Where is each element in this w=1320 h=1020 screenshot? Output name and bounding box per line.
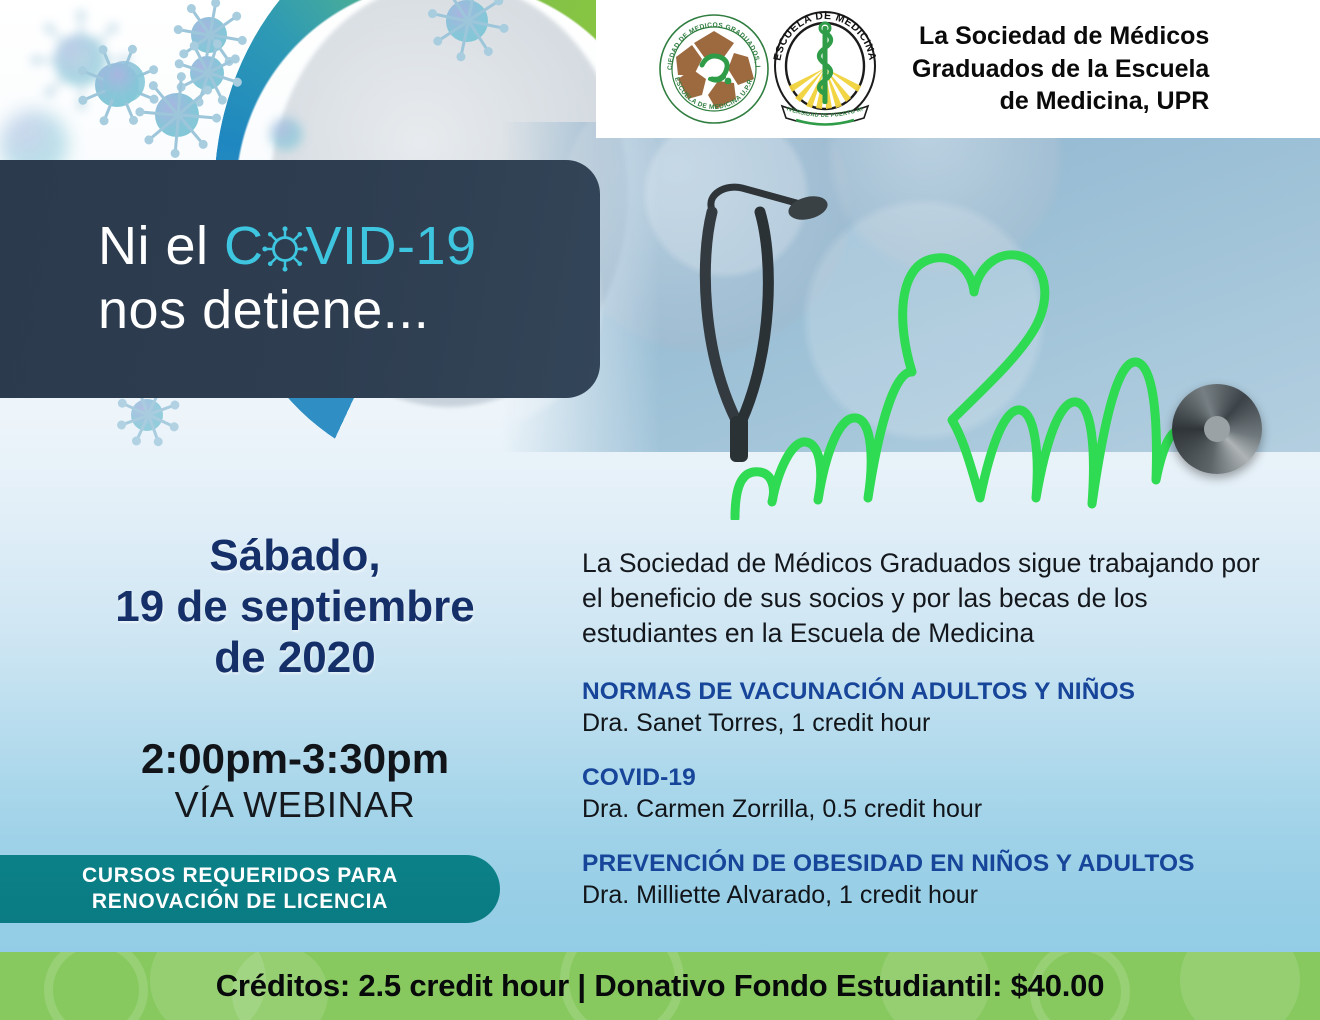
event-time: 2:00pm-3:30pm <box>60 736 530 782</box>
event-date-block: Sábado, 19 de septiembre de 2020 <box>60 530 530 683</box>
escuela-de-medicina-seal-icon: ESCUELA DE MEDICINA UNIVERSIDAD DE PUERT… <box>772 10 878 128</box>
course-speaker: Dra. Milliette Alvarado, 1 credit hour <box>582 881 1282 910</box>
license-renewal-line2: RENOVACIÓN DE LICENCIA <box>92 889 388 915</box>
event-date-line1: Sábado, <box>60 530 530 581</box>
hero-headline-line2: nos detiene... <box>98 279 600 343</box>
org-name-line1: La Sociedad de Médicos <box>912 20 1209 53</box>
footer-bar: Créditos: 2.5 credit hour | Donativo Fon… <box>0 952 1320 1020</box>
event-time-block: 2:00pm-3:30pm VÍA WEBINAR <box>60 736 530 826</box>
sociedad-medicos-graduados-seal-icon: SOCIEDAD DE MEDICOS GRADUADOS, INC. ESCU… <box>658 13 770 125</box>
event-date-line3: de 2020 <box>60 632 530 683</box>
organization-name: La Sociedad de Médicos Graduados de la E… <box>912 20 1209 118</box>
virus-particle-icon <box>138 76 216 154</box>
stethoscope-icon <box>705 187 830 462</box>
course-information-column: La Sociedad de Médicos Graduados sigue t… <box>582 546 1282 910</box>
ekg-heart-line <box>735 255 1196 518</box>
header-bar: SOCIEDAD DE MEDICOS GRADUADOS, INC. ESCU… <box>596 0 1320 138</box>
course-speaker: Dra. Sanet Torres, 1 credit hour <box>582 709 1282 738</box>
decorative-disc <box>1180 952 1300 1020</box>
course-item: PREVENCIÓN DE OBESIDAD EN NIÑOS Y ADULTO… <box>582 850 1282 910</box>
footer-credits-text: Créditos: 2.5 credit hour | Donativo Fon… <box>216 968 1105 1004</box>
course-title: COVID-19 <box>582 764 1282 792</box>
flyer-poster: Ni el C VID-19 <box>0 0 1320 1020</box>
license-renewal-line1: CURSOS REQUERIDOS PARA <box>82 863 398 889</box>
decorative-ring <box>44 952 148 1020</box>
description-paragraph: La Sociedad de Médicos Graduados sigue t… <box>582 546 1282 652</box>
course-item: COVID-19 Dra. Carmen Zorrilla, 0.5 credi… <box>582 764 1282 824</box>
hero-prefix-text: Ni el <box>98 216 224 276</box>
course-speaker: Dra. Carmen Zorrilla, 0.5 credit hour <box>582 795 1282 824</box>
covid-label-after: VID-19 <box>306 216 477 276</box>
license-renewal-banner: CURSOS REQUERIDOS PARA RENOVACIÓN DE LIC… <box>0 855 500 923</box>
course-title: PREVENCIÓN DE OBESIDAD EN NIÑOS Y ADULTO… <box>582 850 1282 878</box>
virus-o-icon <box>262 223 308 269</box>
course-title: NORMAS DE VACUNACIÓN ADULTOS Y NIÑOS <box>582 678 1282 706</box>
hero-headline-line1: Ni el C VID-19 <box>98 215 600 279</box>
org-name-line3: de Medicina, UPR <box>912 85 1209 118</box>
covid-label-before: C <box>224 216 264 276</box>
event-modality: VÍA WEBINAR <box>60 784 530 826</box>
course-item: NORMAS DE VACUNACIÓN ADULTOS Y NIÑOS Dra… <box>582 678 1282 738</box>
event-date-line2: 19 de septiembre <box>60 581 530 632</box>
virus-particle-icon <box>258 106 314 162</box>
hero-headline-panel: Ni el C VID-19 <box>0 160 600 398</box>
stethoscope-chestpiece-icon <box>1172 384 1262 474</box>
org-name-line2: Graduados de la Escuela <box>912 53 1209 86</box>
